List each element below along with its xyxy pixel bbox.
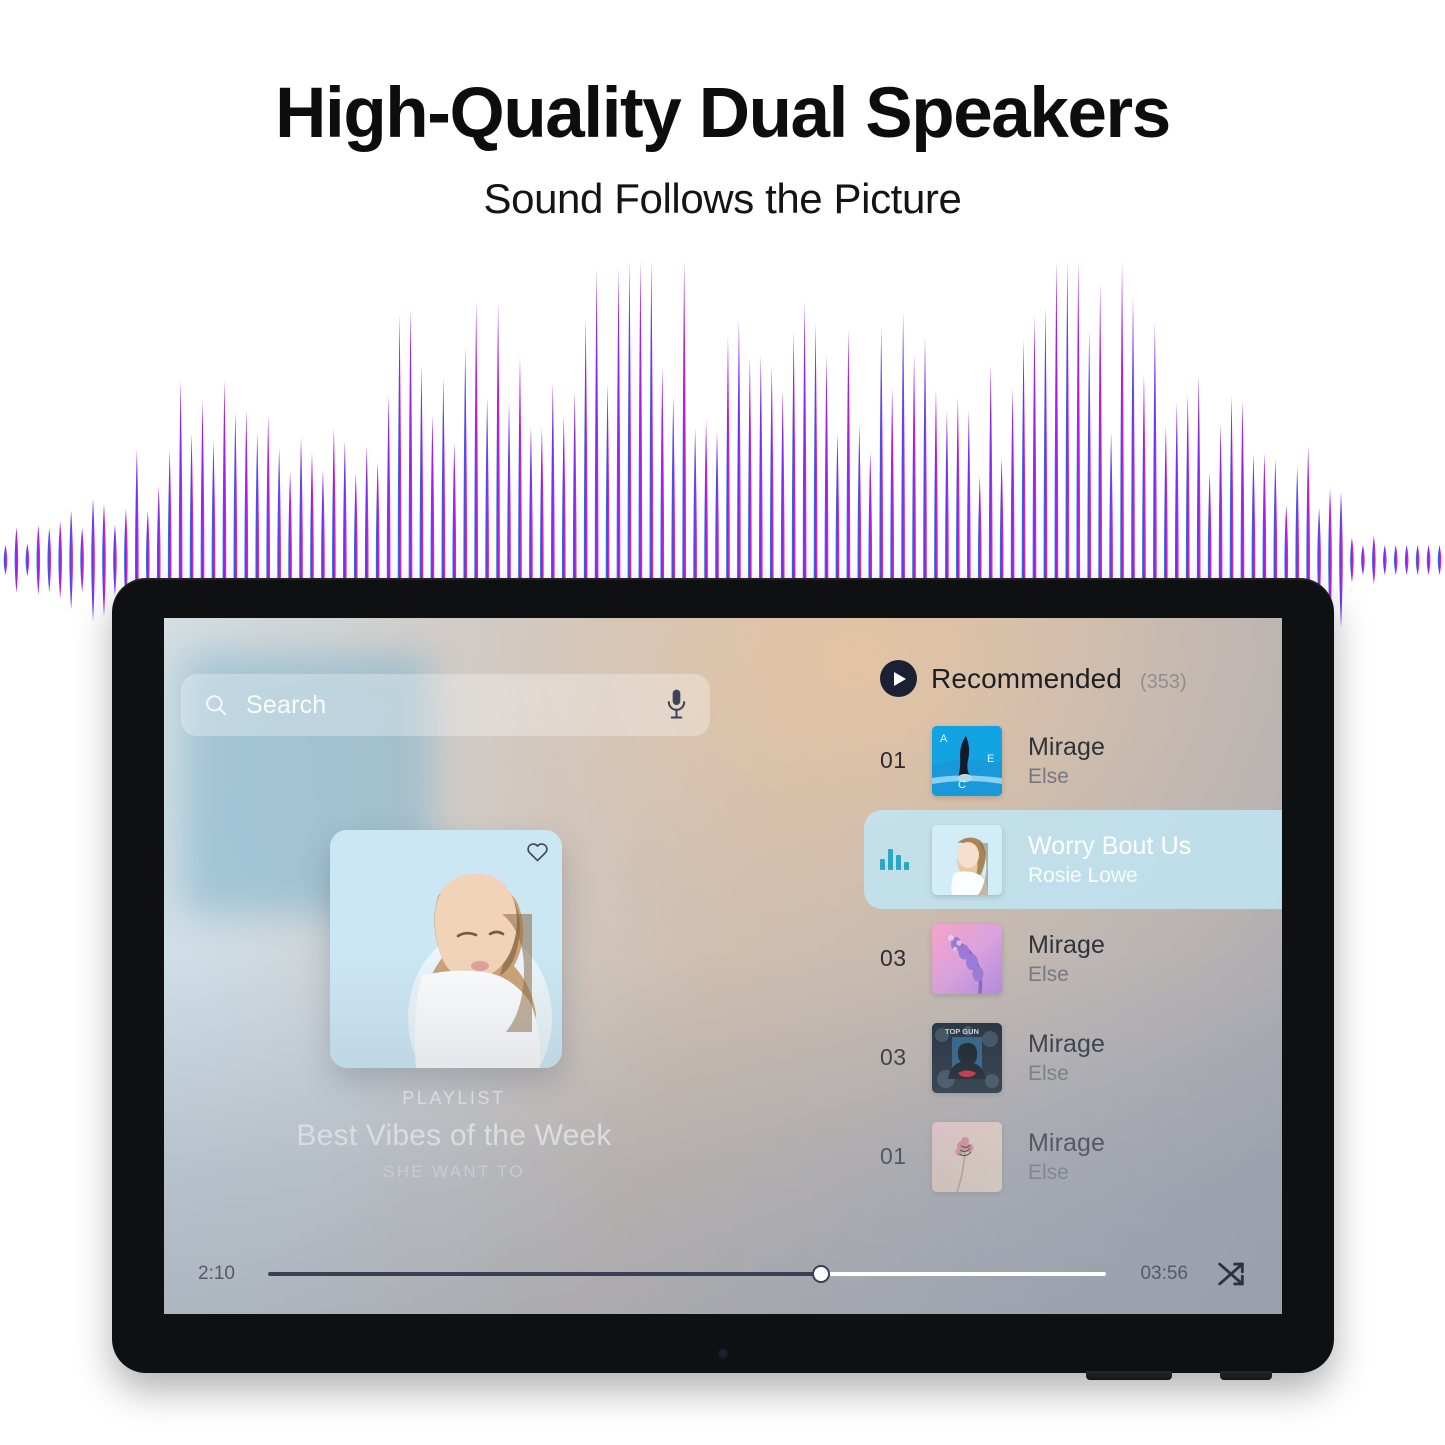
track-meta: Mirage Else [1028, 733, 1105, 789]
track-number: 03 [880, 945, 932, 972]
svg-text:C: C [958, 779, 966, 791]
track-number: 01 [880, 1143, 932, 1170]
recommended-panel: Recommended (353) 01 A E C Mirage Else [864, 660, 1282, 1206]
device-side-button-1 [1086, 1371, 1172, 1380]
recommended-count: (353) [1140, 671, 1187, 694]
search-bar[interactable]: Search [181, 674, 710, 736]
progress-knob[interactable] [812, 1265, 830, 1283]
playlist-kicker: PLAYLIST [204, 1088, 704, 1109]
current-time-label: 2:10 [198, 1263, 262, 1285]
search-icon [203, 692, 229, 718]
track-row[interactable]: 01 A E C Mirage Else [864, 711, 1282, 810]
track-meta: Mirage Else [1028, 1030, 1105, 1086]
track-title: Mirage [1028, 1030, 1105, 1058]
recommended-label: Recommended [931, 663, 1122, 695]
tablet-screen: Search [164, 618, 1282, 1314]
track-artist: Else [1028, 1062, 1105, 1086]
album-art-image [932, 1122, 1002, 1192]
playlist-album-art[interactable] [330, 830, 562, 1068]
track-title: Mirage [1028, 1129, 1105, 1157]
track-artist: Else [1028, 765, 1105, 789]
album-art-image: TOP GUN [932, 1023, 1002, 1093]
now-playing-equalizer-icon [880, 849, 932, 870]
track-album-art: TOP GUN [932, 1023, 1002, 1093]
album-art-image [932, 924, 1002, 994]
svg-text:A: A [940, 733, 948, 745]
favorite-heart-icon[interactable] [526, 841, 549, 862]
track-title: Mirage [1028, 733, 1105, 761]
track-album-art [932, 924, 1002, 994]
track-row[interactable]: 03 Mirage Else [864, 909, 1282, 1008]
track-artist: Else [1028, 963, 1105, 987]
progress-fill [268, 1272, 821, 1276]
track-row-active[interactable]: Worry Bout Us Rosie Lowe [864, 810, 1282, 909]
play-icon[interactable] [880, 660, 917, 697]
track-number: 01 [880, 747, 932, 774]
playlist-subtitle: SHE WANT TO [204, 1162, 704, 1182]
album-cover-image [330, 830, 562, 1068]
playlist-info: PLAYLIST Best Vibes of the Week SHE WANT… [204, 1088, 704, 1182]
track-title: Mirage [1028, 931, 1105, 959]
track-meta: Mirage Else [1028, 1129, 1105, 1185]
track-artist: Else [1028, 1161, 1105, 1185]
track-album-art: A E C [932, 726, 1002, 796]
playlist-title: Best Vibes of the Week [204, 1119, 704, 1153]
player-bar: 2:10 03:56 [164, 1254, 1282, 1294]
track-meta: Worry Bout Us Rosie Lowe [1028, 832, 1191, 888]
track-meta: Mirage Else [1028, 931, 1105, 987]
track-row[interactable]: 03 TOP GUN Mirage Else [864, 1008, 1282, 1107]
shuffle-icon[interactable] [1214, 1257, 1248, 1291]
track-number: 03 [880, 1044, 932, 1071]
svg-text:E: E [987, 753, 994, 765]
album-art-image: A E C [932, 726, 1002, 796]
front-camera-icon [720, 1350, 727, 1357]
promo-image: High-Quality Dual Speakers Sound Follows… [0, 0, 1445, 1445]
total-time-label: 03:56 [1112, 1263, 1188, 1285]
track-list: 01 A E C Mirage Else Worry Bout Us [864, 711, 1282, 1206]
track-album-art [932, 825, 1002, 895]
recommended-header[interactable]: Recommended (353) [864, 660, 1282, 697]
track-artist: Rosie Lowe [1028, 864, 1191, 888]
device-side-button-2 [1220, 1371, 1272, 1380]
track-row[interactable]: 01 Mirage Else [864, 1107, 1282, 1206]
tablet-device: Search [112, 578, 1334, 1373]
svg-text:TOP GUN: TOP GUN [945, 1027, 979, 1036]
microphone-icon[interactable] [665, 688, 688, 722]
track-album-art [932, 1122, 1002, 1192]
progress-slider[interactable] [268, 1263, 1106, 1285]
album-art-image [932, 825, 1002, 895]
page-title: High-Quality Dual Speakers [0, 78, 1445, 149]
track-title: Worry Bout Us [1028, 832, 1191, 860]
search-input[interactable]: Search [246, 691, 326, 720]
